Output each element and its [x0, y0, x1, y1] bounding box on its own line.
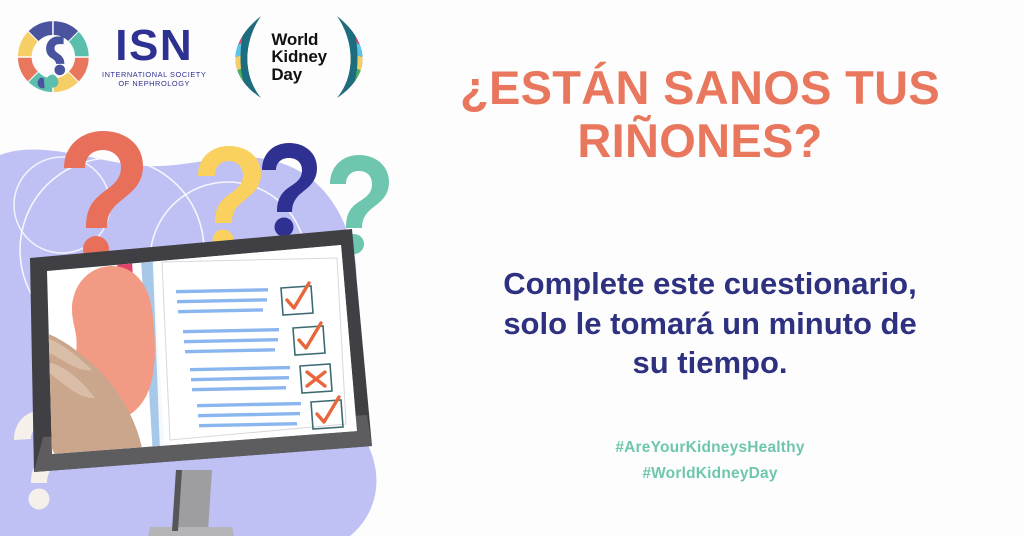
headline-line2: RIÑONES?: [392, 115, 1008, 168]
wkd-kidney-right-icon: [332, 14, 366, 100]
subheadline-line1: Complete este cuestionario,: [410, 264, 1010, 304]
wkd-line1: World: [271, 31, 326, 48]
hashtag-group: #AreYourKidneysHealthy #WorldKidneyDay: [470, 435, 950, 486]
world-kidney-day-logo: World Kidney Day: [232, 14, 365, 100]
isn-acronym: ISN: [115, 25, 193, 67]
isn-kidney-ring-mark: [18, 18, 94, 96]
wkd-wordmark: World Kidney Day: [268, 31, 329, 83]
isn-logo: ISN INTERNATIONAL SOCIETY OF NEPHROLOGY: [18, 18, 206, 96]
isn-wordmark: ISN INTERNATIONAL SOCIETY OF NEPHROLOGY: [102, 25, 206, 88]
page-title: ¿ESTÁN SANOS TUS RIÑONES?: [392, 62, 1008, 167]
isn-tagline: INTERNATIONAL SOCIETY OF NEPHROLOGY: [102, 70, 206, 89]
wkd-kidney-left-icon: [232, 14, 266, 100]
logo-bar: ISN INTERNATIONAL SOCIETY OF NEPHROLOGY: [18, 14, 366, 100]
headline-line1: ¿ESTÁN SANOS TUS: [392, 62, 1008, 115]
subheadline-line3: su tiempo.: [410, 343, 1010, 383]
isn-tagline-line2: OF NEPHROLOGY: [102, 79, 206, 88]
wkd-line3: Day: [271, 66, 326, 83]
isn-tagline-line1: INTERNATIONAL SOCIETY: [102, 70, 206, 79]
hashtag-world-kidney-day: #WorldKidneyDay: [470, 461, 950, 487]
monitor-screen: [18, 235, 370, 466]
page-subtitle: Complete este cuestionario, solo le toma…: [410, 264, 1010, 383]
hashtag-are-your-kidneys-healthy: #AreYourKidneysHealthy: [470, 435, 950, 461]
subheadline-line2: solo le tomará un minuto de: [410, 304, 1010, 344]
wkd-line2: Kidney: [271, 48, 326, 65]
poster-canvas: ISN INTERNATIONAL SOCIETY OF NEPHROLOGY: [0, 0, 1024, 536]
